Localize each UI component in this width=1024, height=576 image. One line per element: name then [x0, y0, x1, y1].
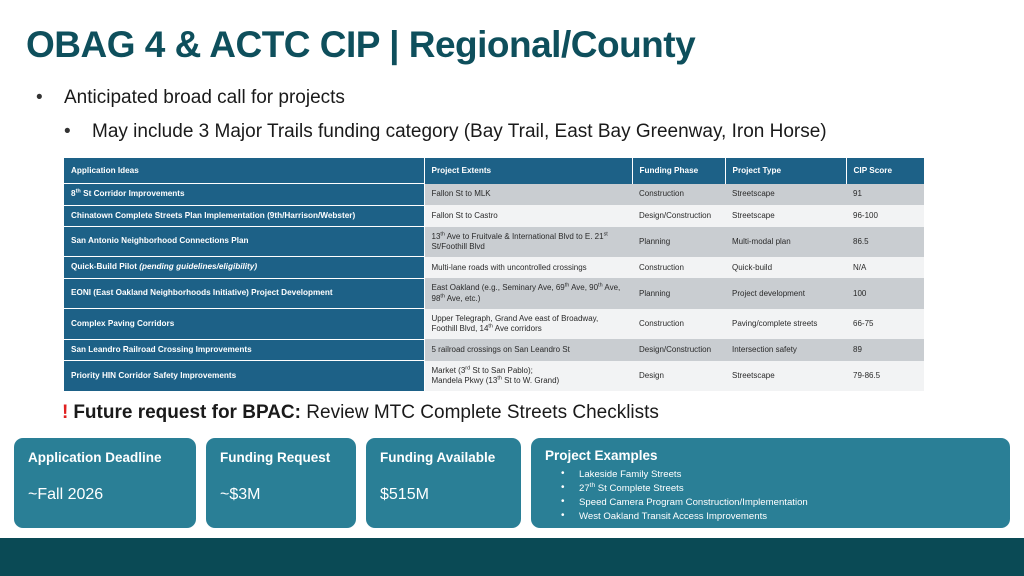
table-row: Chinatown Complete Streets Plan Implemen…	[64, 205, 924, 227]
table-row: San Antonio Neighborhood Connections Pla…	[64, 227, 924, 257]
cell-application-idea: Priority HIN Corridor Safety Improvement…	[64, 361, 424, 391]
cell-project-extent: East Oakland (e.g., Seminary Ave, 69th A…	[424, 278, 632, 308]
bullet-level-1-text: Anticipated broad call for projects	[64, 87, 345, 108]
card-project-examples: Project Examples Lakeside Family Streets…	[531, 438, 1010, 528]
column-header-application-ideas: Application Ideas	[64, 158, 424, 184]
future-request-label: Future request for BPAC:	[73, 402, 301, 423]
list-item: Lakeside Family Streets	[545, 468, 996, 482]
cell-cip-score: 89	[846, 339, 924, 361]
list-item: 27th St Complete Streets	[545, 482, 996, 496]
list-item: West Oakland Transit Access Improvements	[545, 510, 996, 524]
table-row: Quick-Build Pilot (pending guidelines/el…	[64, 257, 924, 279]
table-body: 8th St Corridor ImprovementsFallon St to…	[64, 184, 924, 392]
footer-bar	[0, 538, 1024, 576]
alert-exclamation-icon: !	[62, 402, 68, 423]
table-row: 8th St Corridor ImprovementsFallon St to…	[64, 184, 924, 206]
column-header-cip-score: CIP Score	[846, 158, 924, 184]
future-request-text: Review MTC Complete Streets Checklists	[301, 402, 659, 423]
bullet-level-1: •Anticipated broad call for projects	[36, 87, 345, 109]
cell-funding-phase: Design	[632, 361, 725, 391]
cell-funding-phase: Construction	[632, 309, 725, 339]
column-header-project-type: Project Type	[725, 158, 846, 184]
cell-application-idea: 8th St Corridor Improvements	[64, 184, 424, 206]
bullet-level-2: •May include 3 Major Trails funding cate…	[64, 121, 827, 143]
cell-cip-score: N/A	[846, 257, 924, 279]
cell-cip-score: 100	[846, 278, 924, 308]
cell-project-type: Streetscape	[725, 184, 846, 206]
table-row: Priority HIN Corridor Safety Improvement…	[64, 361, 924, 391]
project-examples-list: Lakeside Family Streets27th St Complete …	[545, 468, 996, 524]
cell-cip-score: 66-75	[846, 309, 924, 339]
card-value: ~Fall 2026	[28, 486, 182, 504]
cell-cip-score: 86.5	[846, 227, 924, 257]
card-application-deadline: Application Deadline ~Fall 2026	[14, 438, 196, 528]
cell-project-extent: Multi-lane roads with uncontrolled cross…	[424, 257, 632, 279]
cell-project-type: Quick-build	[725, 257, 846, 279]
cell-application-idea: Complex Paving Corridors	[64, 309, 424, 339]
column-header-funding-phase: Funding Phase	[632, 158, 725, 184]
cell-application-idea: San Leandro Railroad Crossing Improvemen…	[64, 339, 424, 361]
list-item: Speed Camera Program Construction/Implem…	[545, 496, 996, 510]
cell-application-idea: Quick-Build Pilot (pending guidelines/el…	[64, 257, 424, 279]
future-request-line: !Future request for BPAC: Review MTC Com…	[62, 402, 659, 424]
bullet-marker: •	[64, 121, 92, 143]
column-header-project-extents: Project Extents	[424, 158, 632, 184]
cell-funding-phase: Construction	[632, 257, 725, 279]
card-title: Funding Available	[380, 450, 507, 465]
table-row: Complex Paving CorridorsUpper Telegraph,…	[64, 309, 924, 339]
cell-funding-phase: Planning	[632, 278, 725, 308]
cell-project-extent: Fallon St to MLK	[424, 184, 632, 206]
cell-project-type: Project development	[725, 278, 846, 308]
cell-project-type: Streetscape	[725, 361, 846, 391]
cell-project-extent: 5 railroad crossings on San Leandro St	[424, 339, 632, 361]
bullet-level-2-text: May include 3 Major Trails funding categ…	[92, 121, 827, 142]
cell-project-extent: Market (3rd St to San Pablo);Mandela Pkw…	[424, 361, 632, 391]
card-value: ~$3M	[220, 486, 342, 504]
cell-project-type: Multi-modal plan	[725, 227, 846, 257]
cell-project-extent: 13th Ave to Fruitvale & International Bl…	[424, 227, 632, 257]
card-title: Funding Request	[220, 450, 342, 465]
cell-project-extent: Fallon St to Castro	[424, 205, 632, 227]
table-header-row: Application Ideas Project Extents Fundin…	[64, 158, 924, 184]
bullet-marker: •	[36, 87, 64, 109]
card-title: Application Deadline	[28, 450, 182, 465]
cell-application-idea: San Antonio Neighborhood Connections Pla…	[64, 227, 424, 257]
cell-cip-score: 96-100	[846, 205, 924, 227]
page-title: OBAG 4 & ACTC CIP | Regional/County	[26, 24, 695, 66]
application-ideas-table: Application Ideas Project Extents Fundin…	[64, 158, 924, 392]
cell-funding-phase: Construction	[632, 184, 725, 206]
cell-application-idea: Chinatown Complete Streets Plan Implemen…	[64, 205, 424, 227]
cell-funding-phase: Design/Construction	[632, 205, 725, 227]
cell-project-type: Streetscape	[725, 205, 846, 227]
card-title: Project Examples	[545, 448, 996, 463]
cell-project-extent: Upper Telegraph, Grand Ave east of Broad…	[424, 309, 632, 339]
table-row: San Leandro Railroad Crossing Improvemen…	[64, 339, 924, 361]
cell-cip-score: 91	[846, 184, 924, 206]
cell-funding-phase: Planning	[632, 227, 725, 257]
cell-project-type: Intersection safety	[725, 339, 846, 361]
card-funding-available: Funding Available $515M	[366, 438, 521, 528]
card-value: $515M	[380, 486, 507, 504]
cell-funding-phase: Design/Construction	[632, 339, 725, 361]
cell-application-idea: EONI (East Oakland Neighborhoods Initiat…	[64, 278, 424, 308]
cell-project-type: Paving/complete streets	[725, 309, 846, 339]
cell-cip-score: 79-86.5	[846, 361, 924, 391]
card-funding-request: Funding Request ~$3M	[206, 438, 356, 528]
table-row: EONI (East Oakland Neighborhoods Initiat…	[64, 278, 924, 308]
